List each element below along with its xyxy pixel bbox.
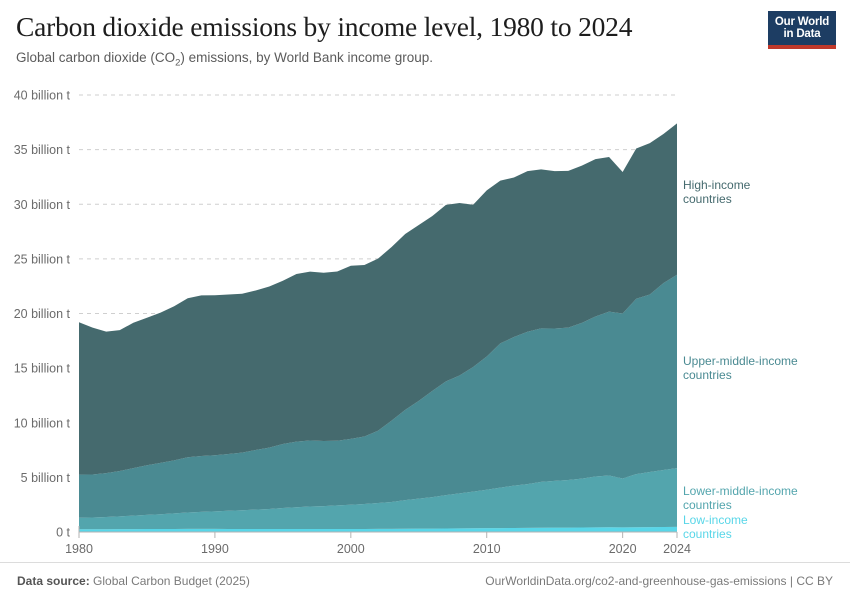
y-tick-label: 20 billion t	[14, 307, 71, 321]
x-tick-label: 2020	[609, 542, 637, 556]
attribution-link[interactable]: OurWorldinData.org/co2-and-greenhouse-ga…	[485, 574, 833, 588]
x-tick-label: 1980	[65, 542, 93, 556]
y-tick-label: 40 billion t	[14, 89, 71, 103]
chart-footer: Data source: Global Carbon Budget (2025)…	[0, 562, 850, 600]
series-label-lower-middle-income-countries[interactable]: Lower-middle-incomecountries	[683, 484, 798, 512]
subtitle-pre: Global carbon dioxide (CO	[16, 50, 175, 65]
series-label-line: countries	[683, 192, 732, 206]
y-axis-tick-labels: 0 t5 billion t10 billion t15 billion t20…	[14, 89, 71, 540]
series-label-high-income-countries[interactable]: High-incomecountries	[683, 178, 751, 206]
x-tick-label: 2000	[337, 542, 365, 556]
y-tick-label: 15 billion t	[14, 362, 71, 376]
y-tick-label: 25 billion t	[14, 252, 71, 266]
x-tick-label: 2024	[663, 542, 691, 556]
x-axis-tick-labels: 198019902000201020202024	[65, 542, 691, 556]
y-tick-label: 5 billion t	[21, 471, 71, 485]
series-label-line: countries	[683, 527, 732, 541]
series-label-line: High-income	[683, 178, 751, 192]
area-series-group[interactable]	[79, 123, 677, 532]
data-source: Data source: Global Carbon Budget (2025)	[17, 574, 250, 588]
logo-line-1: Our World	[775, 16, 829, 29]
y-tick-label: 0 t	[56, 526, 70, 540]
owid-logo[interactable]: Our World in Data	[768, 11, 836, 49]
chart-subtitle: Global carbon dioxide (CO2) emissions, b…	[16, 49, 834, 73]
chart-area: 0 t5 billion t10 billion t15 billion t20…	[0, 80, 850, 558]
data-source-label: Data source:	[17, 574, 90, 588]
data-source-value: Global Carbon Budget (2025)	[93, 574, 250, 588]
chart-header: Carbon dioxide emissions by income level…	[16, 10, 834, 72]
x-tick-label: 2010	[473, 542, 501, 556]
chart-page: Carbon dioxide emissions by income level…	[0, 0, 850, 600]
series-label-line: countries	[683, 368, 732, 382]
page-title: Carbon dioxide emissions by income level…	[16, 10, 834, 44]
stacked-area-chart[interactable]: 0 t5 billion t10 billion t15 billion t20…	[0, 80, 850, 558]
series-labels-group[interactable]: High-incomecountriesUpper-middle-incomec…	[683, 178, 798, 541]
series-label-upper-middle-income-countries[interactable]: Upper-middle-incomecountries	[683, 354, 798, 382]
series-label-low-income-countries[interactable]: Low-incomecountries	[683, 513, 748, 541]
y-tick-label: 10 billion t	[14, 416, 71, 430]
series-label-line: Lower-middle-income	[683, 484, 798, 498]
y-tick-label: 30 billion t	[14, 198, 71, 212]
series-label-line: Low-income	[683, 513, 748, 527]
logo-line-2: in Data	[784, 28, 821, 41]
subtitle-post: ) emissions, by World Bank income group.	[180, 50, 433, 65]
series-label-line: countries	[683, 498, 732, 512]
y-tick-label: 35 billion t	[14, 143, 71, 157]
x-tick-label: 1990	[201, 542, 229, 556]
series-label-line: Upper-middle-income	[683, 354, 798, 368]
